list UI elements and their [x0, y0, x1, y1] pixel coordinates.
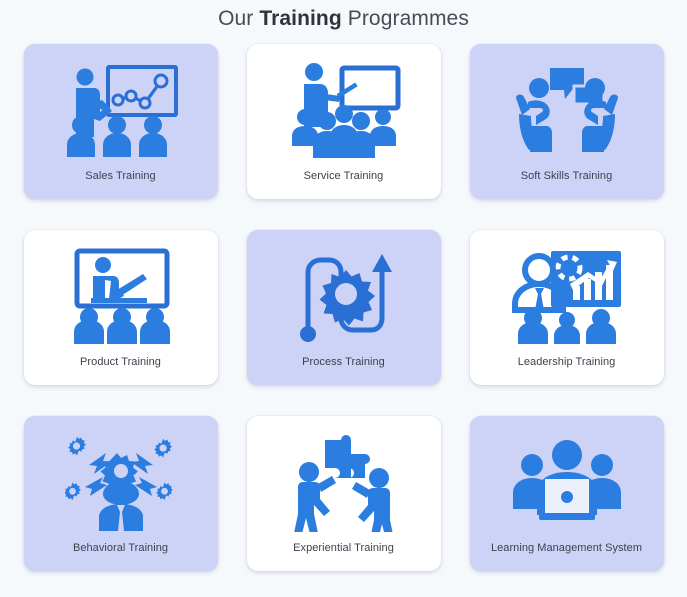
leader-bar-chart-board-icon	[470, 230, 664, 356]
programme-card-grid: Sales Training	[0, 38, 687, 571]
page-title: Our Training Programmes	[0, 0, 687, 38]
page-title-highlight: Training	[259, 7, 341, 30]
programme-card-behavioral-training[interactable]: Behavioral Training	[24, 416, 218, 571]
programme-card-leadership-training[interactable]: Leadership Training	[470, 230, 664, 385]
presenter-screen-audience-icon	[24, 230, 218, 356]
two-people-puzzle-pieces-icon	[247, 416, 441, 542]
page-title-prefix: Our	[218, 7, 259, 30]
programme-card-soft-skills-training[interactable]: Soft Skills Training	[470, 44, 664, 199]
programme-card-label: Experiential Training	[247, 542, 441, 571]
gear-process-flow-arrow-icon	[247, 230, 441, 356]
programme-card-label: Learning Management System	[470, 542, 664, 571]
programme-card-sales-training[interactable]: Sales Training	[24, 44, 218, 199]
programme-card-label: Sales Training	[24, 170, 218, 199]
programme-card-label: Process Training	[247, 356, 441, 385]
two-people-conversation-bubbles-icon	[470, 44, 664, 170]
training-programmes-page: Our Training Programmes	[0, 0, 687, 597]
programme-card-product-training[interactable]: Product Training	[24, 230, 218, 385]
programme-card-process-training[interactable]: Process Training	[247, 230, 441, 385]
programme-card-service-training[interactable]: Service Training	[247, 44, 441, 199]
person-gears-arrows-icon	[24, 416, 218, 542]
presenter-line-chart-audience-icon	[24, 44, 218, 170]
programme-card-learning-management-system[interactable]: Learning Management System	[470, 416, 664, 571]
programme-card-label: Soft Skills Training	[470, 170, 664, 199]
programme-card-label: Leadership Training	[470, 356, 664, 385]
trainer-whiteboard-classroom-icon	[247, 44, 441, 170]
team-laptop-icon	[470, 416, 664, 542]
programme-card-label: Product Training	[24, 356, 218, 385]
programme-card-label: Behavioral Training	[24, 542, 218, 571]
page-title-suffix: Programmes	[342, 7, 469, 30]
programme-card-experiential-training[interactable]: Experiential Training	[247, 416, 441, 571]
programme-card-label: Service Training	[247, 170, 441, 199]
